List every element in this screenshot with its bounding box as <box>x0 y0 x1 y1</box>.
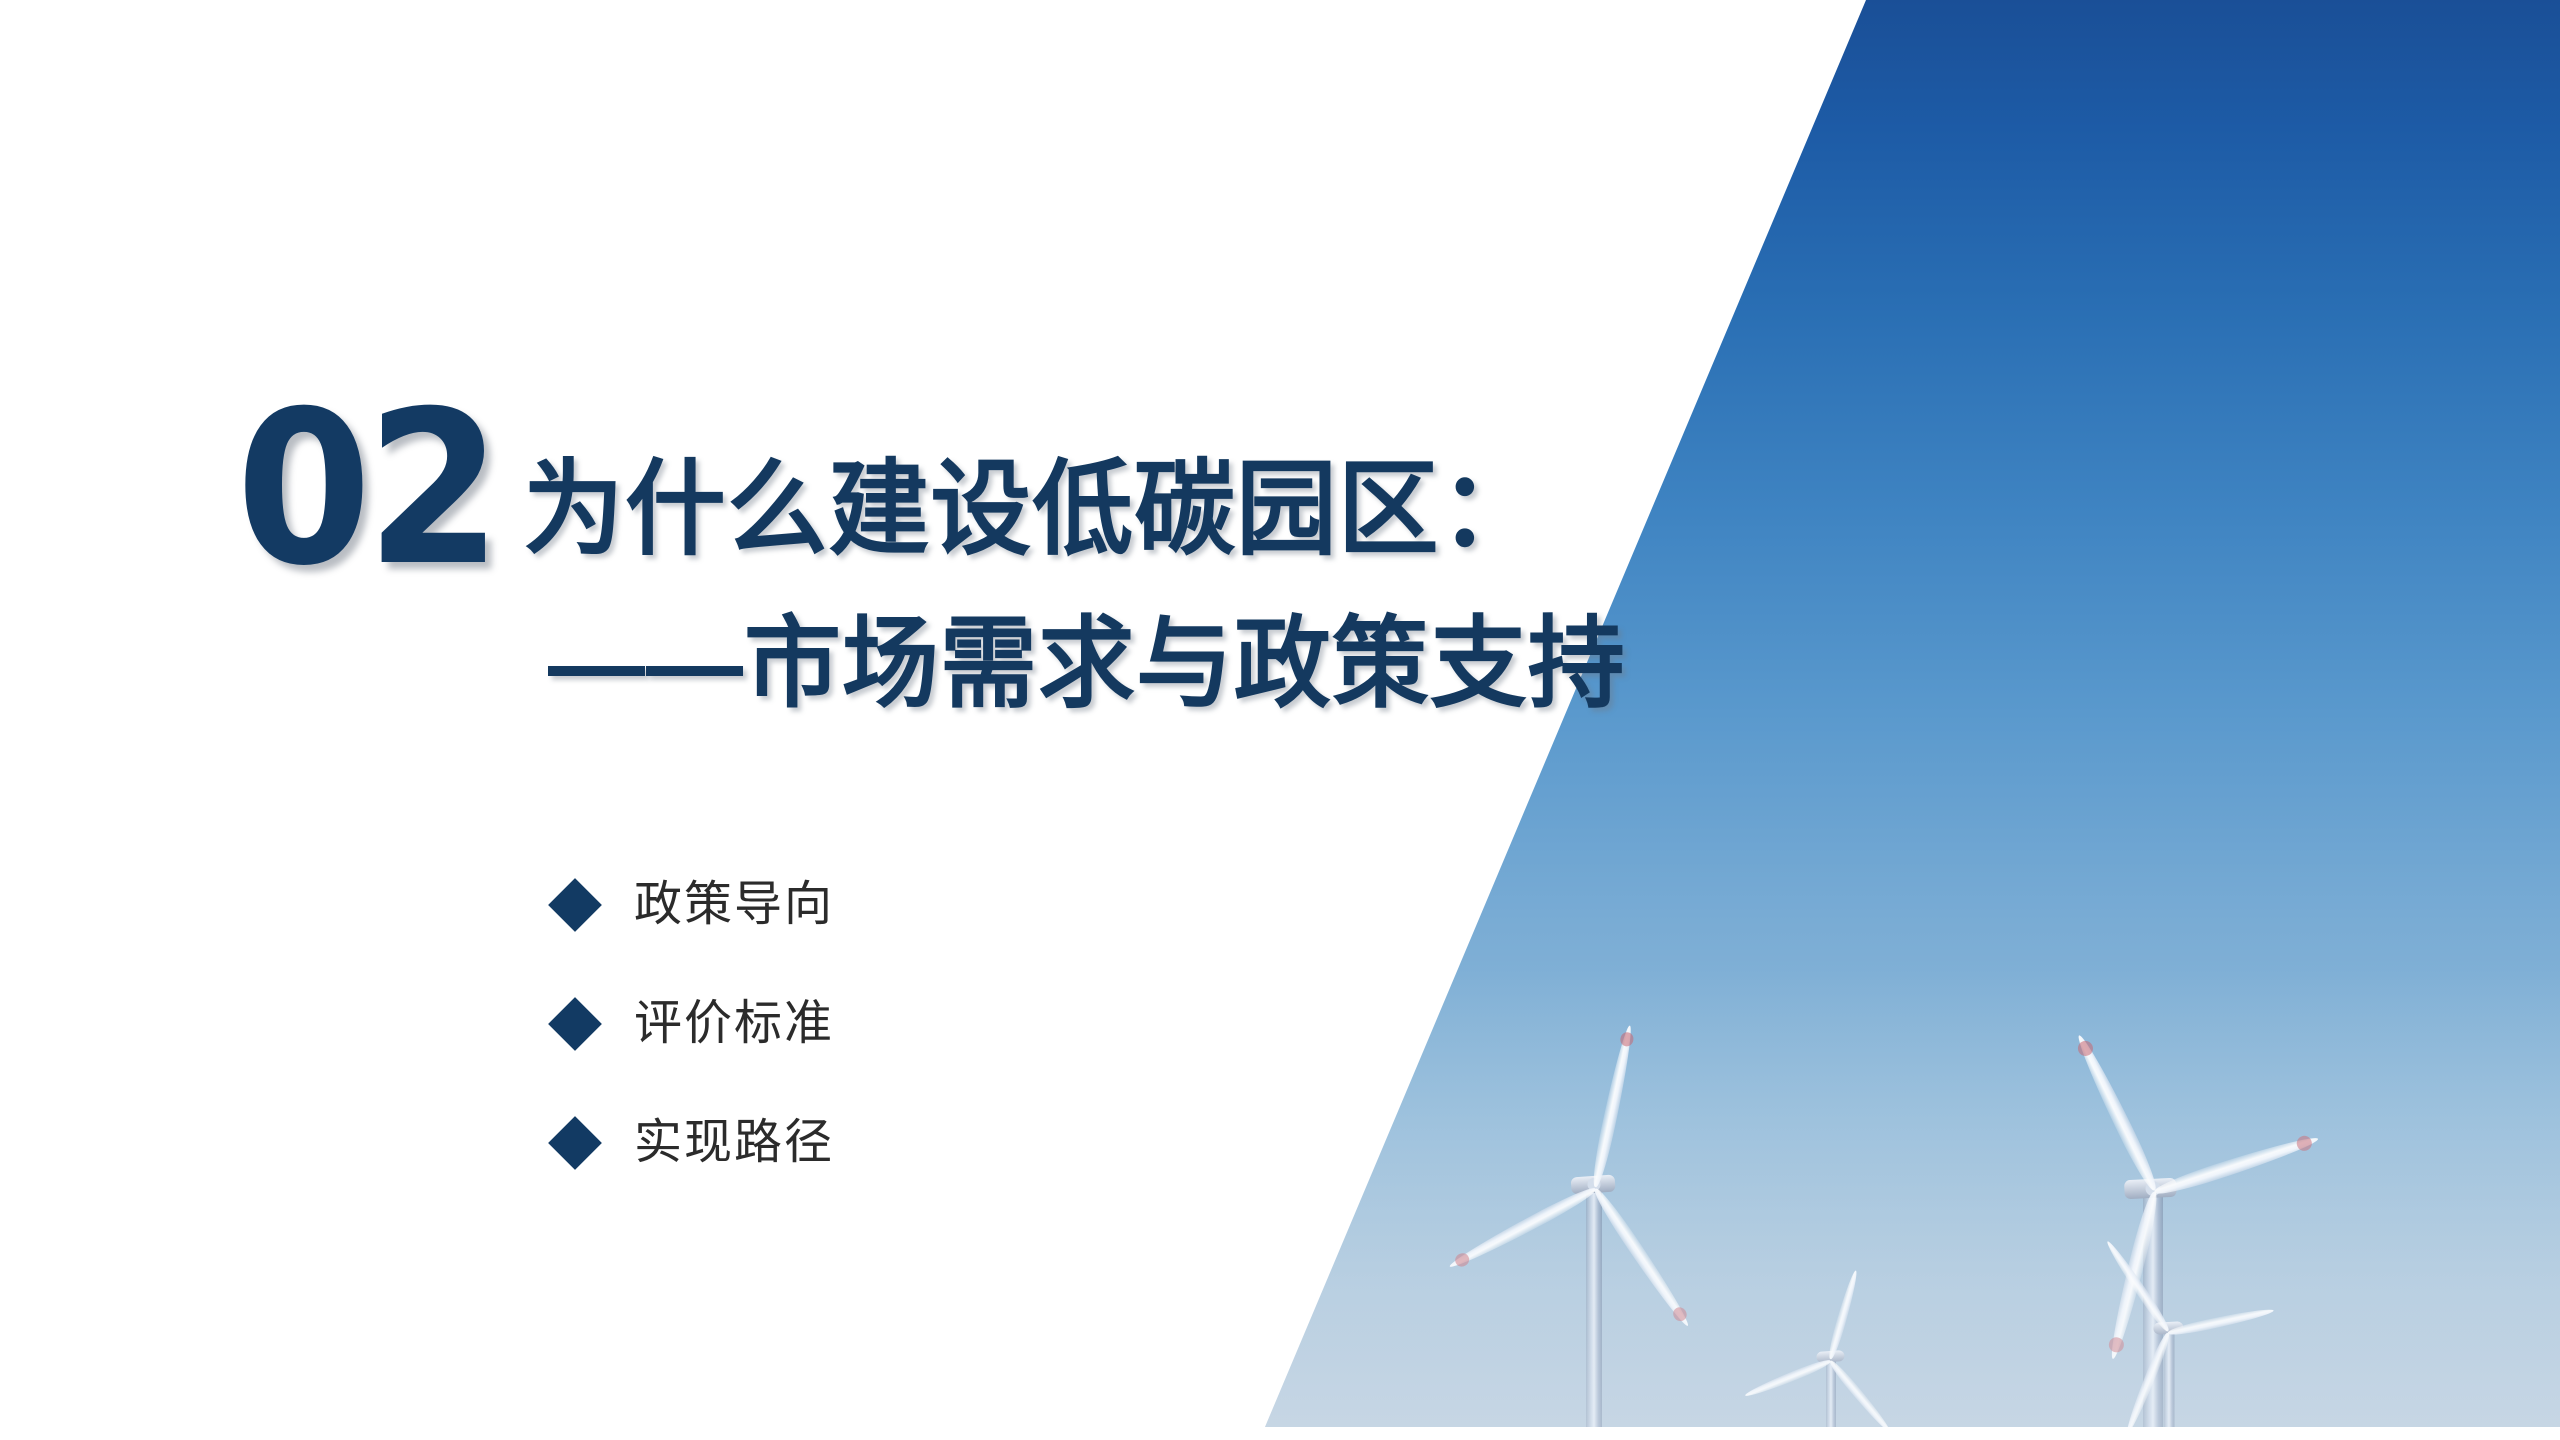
diamond-icon <box>548 878 602 932</box>
slide-root: 02 为什么建设低碳园区： ——市场需求与政策支持 政策导向 评价标准 实现路径 <box>0 0 2560 1440</box>
page-title: 为什么建设低碳园区： <box>523 458 1542 580</box>
heading-block: 02 为什么建设低碳园区： ——市场需求与政策支持 <box>236 398 1596 714</box>
page-subtitle: ——市场需求与政策支持 <box>548 614 1565 714</box>
section-number: 02 <box>236 398 496 580</box>
list-item[interactable]: 评价标准 <box>556 987 834 1061</box>
list-item-label: 政策导向 <box>634 881 834 929</box>
slide-content: 02 为什么建设低碳园区： ——市场需求与政策支持 政策导向 评价标准 实现路径 <box>0 0 1700 1440</box>
title-row: 02 为什么建设低碳园区： <box>236 398 1596 580</box>
list-item-label: 评价标准 <box>634 1000 834 1048</box>
diamond-icon <box>548 997 602 1051</box>
list-item-label: 实现路径 <box>634 1119 834 1167</box>
diamond-icon <box>548 1116 602 1170</box>
list-item[interactable]: 实现路径 <box>556 1106 834 1180</box>
bullet-list: 政策导向 评价标准 实现路径 <box>556 868 834 1225</box>
list-item[interactable]: 政策导向 <box>556 868 834 942</box>
